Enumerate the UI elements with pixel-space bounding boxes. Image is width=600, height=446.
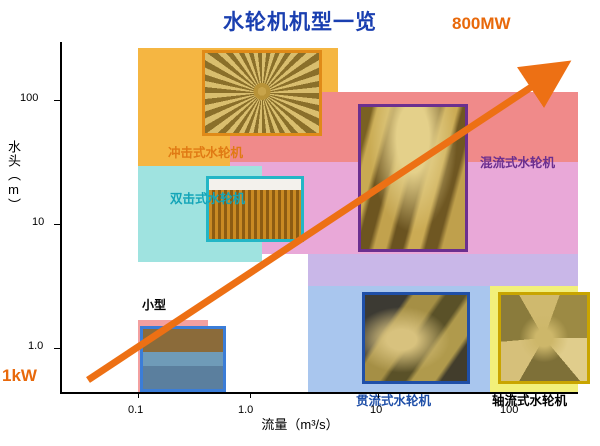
label-small: 小型	[142, 296, 166, 313]
x-tick-1-0	[250, 392, 251, 398]
label-crossflow: 双击式水轮机	[170, 188, 245, 207]
y-tick-10	[54, 224, 60, 225]
power-range-arrow	[60, 42, 578, 394]
plot-area: 冲击式水轮机 双击式水轮机 混流式水轮机 贯流式水轮机 轴流式水轮机 小型 10…	[60, 42, 578, 394]
y-axis-line	[60, 42, 62, 394]
x-tick-100	[510, 392, 511, 398]
chart-root: 水轮机机型一览 冲击式水轮机 双击式水轮机 混流式水轮机	[0, 0, 600, 446]
y-tick-label-1: 1.0	[28, 340, 43, 352]
x-tick-10	[378, 392, 379, 398]
y-tick-label-100: 100	[20, 92, 38, 104]
label-francis: 混流式水轮机	[480, 152, 555, 171]
annotation-800mw: 800MW	[452, 14, 511, 34]
annotation-1kw: 1kW	[2, 366, 37, 386]
x-tick-0-1	[138, 392, 139, 398]
y-tick-label-10: 10	[32, 216, 44, 228]
y-axis-label: 水头（m）	[4, 140, 23, 212]
x-axis-label: 流量（m³/s）	[0, 414, 600, 433]
y-tick-1	[54, 348, 60, 349]
y-tick-100	[54, 100, 60, 101]
label-impulse: 冲击式水轮机	[168, 142, 243, 161]
